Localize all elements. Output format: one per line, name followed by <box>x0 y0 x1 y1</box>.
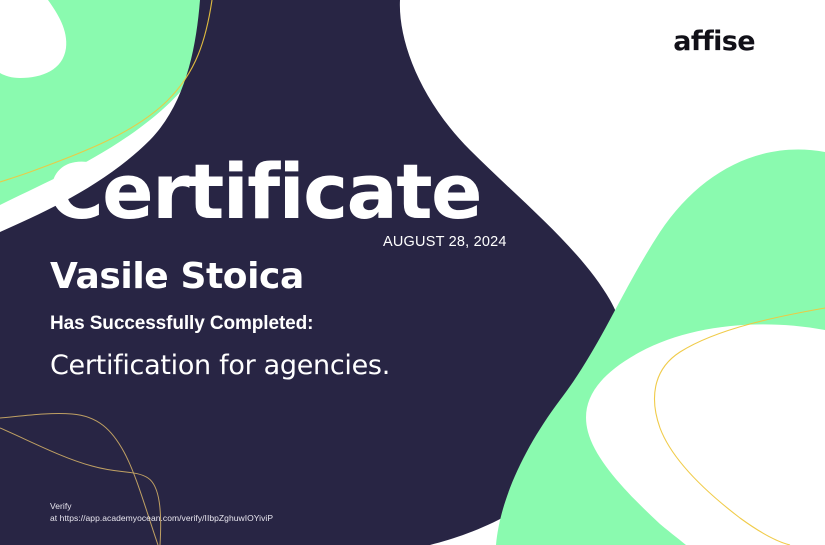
recipient-name: Vasile Stoica <box>50 256 304 297</box>
verification-block: Verify at https://app.academyocean.com/v… <box>50 500 273 525</box>
verify-url[interactable]: at https://app.academyocean.com/verify/I… <box>50 512 273 524</box>
completion-label: Has Successfully Completed: <box>50 313 313 336</box>
page-title: Certificate <box>48 154 481 230</box>
verify-label: Verify <box>50 500 273 512</box>
affise-logo: affise <box>673 28 755 55</box>
course-name: Certification for agencies. <box>50 350 390 382</box>
issue-date: AUGUST 28, 2024 <box>383 235 507 250</box>
certificate-canvas: affise Certificate AUGUST 28, 2024 Vasil… <box>0 0 825 545</box>
